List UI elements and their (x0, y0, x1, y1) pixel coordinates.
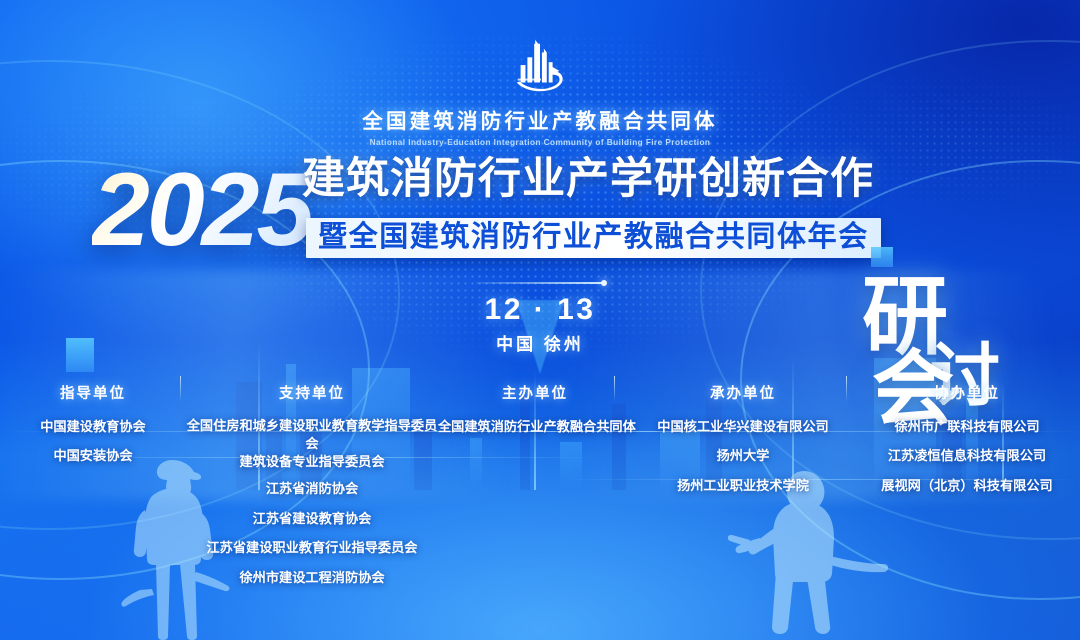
org-item: 中国建设教育协会 (0, 417, 186, 437)
org-item: 全国建筑消防行业产教融合共同体 (438, 417, 632, 437)
org-item: 扬州工业职业技术学院 (632, 476, 854, 496)
org-item: 全国住房和城乡建设职业教育教学指导委员会建筑设备专业指导委员会 (186, 417, 438, 470)
org-item: 江苏凌恒信息科技有限公司 (854, 446, 1080, 466)
event-date-block: 12 · 13 中国 徐州 (0, 282, 1080, 355)
org-item: 扬州大学 (632, 446, 854, 466)
org-column-support: 支持单位 全国住房和城乡建设职业教育教学指导委员会建筑设备专业指导委员会 江苏省… (186, 382, 438, 588)
org-column-guiding: 指导单位 中国建设教育协会 中国安装协会 (0, 382, 186, 588)
org-column-coorganizer: 协办单位 徐州市广联科技有限公司 江苏凌恒信息科技有限公司 展视网（北京）科技有… (854, 382, 1080, 588)
org-item: 中国核工业华兴建设有限公司 (632, 417, 854, 437)
org-heading: 主办单位 (438, 382, 632, 403)
column-divider (180, 376, 181, 402)
band-accent-tick (871, 247, 893, 267)
org-item: 江苏省建设职业教育行业指导委员会 (186, 538, 438, 558)
org-item: 徐州市建设工程消防协会 (186, 568, 438, 588)
org-heading: 承办单位 (632, 382, 854, 403)
building-ribbon-logo-icon (509, 36, 571, 98)
conference-poster: 全国建筑消防行业产教融合共同体 National Industry-Educat… (0, 0, 1080, 640)
date-top-line (476, 282, 604, 284)
org-item: 展视网（北京）科技有限公司 (854, 476, 1080, 496)
year-2025: 2025 (92, 158, 311, 262)
org-heading: 支持单位 (186, 382, 438, 403)
headline-line-1: 建筑消防行业产学研创新合作 (302, 158, 874, 201)
column-divider (614, 376, 615, 402)
headline-line-2-band: 暨全国建筑消防行业产教融合共同体年会 (306, 218, 881, 258)
column-divider (846, 376, 847, 402)
org-column-host: 主办单位 全国建筑消防行业产教融合共同体 (438, 382, 632, 588)
org-item: 中国安装协会 (0, 446, 186, 466)
event-location: 中国 徐州 (0, 330, 1080, 355)
emblem-chinese-name: 全国建筑消防行业产教融合共同体 (0, 104, 1080, 134)
org-column-organizer: 承办单位 中国核工业华兴建设有限公司 扬州大学 扬州工业职业技术学院 (632, 382, 854, 588)
org-heading: 协办单位 (854, 382, 1080, 403)
headline-line-2: 暨全国建筑消防行业产教融合共同体年会 (318, 223, 869, 252)
community-emblem: 全国建筑消防行业产教融合共同体 National Industry-Educat… (0, 36, 1080, 147)
org-item: 江苏省消防协会 (186, 479, 438, 499)
headline-block: 2025 建筑消防行业产学研创新合作 暨全国建筑消防行业产教融合共同体年会 研 … (0, 150, 1080, 280)
org-heading: 指导单位 (0, 382, 186, 403)
event-date: 12 · 13 (0, 294, 1080, 326)
emblem-english-name: National Industry-Education Integration … (0, 138, 1080, 147)
org-item: 江苏省建设教育协会 (186, 509, 438, 529)
org-item: 徐州市广联科技有限公司 (854, 417, 1080, 437)
organizations-row: 指导单位 中国建设教育协会 中国安装协会 支持单位 全国住房和城乡建设职业教育教… (0, 382, 1080, 588)
